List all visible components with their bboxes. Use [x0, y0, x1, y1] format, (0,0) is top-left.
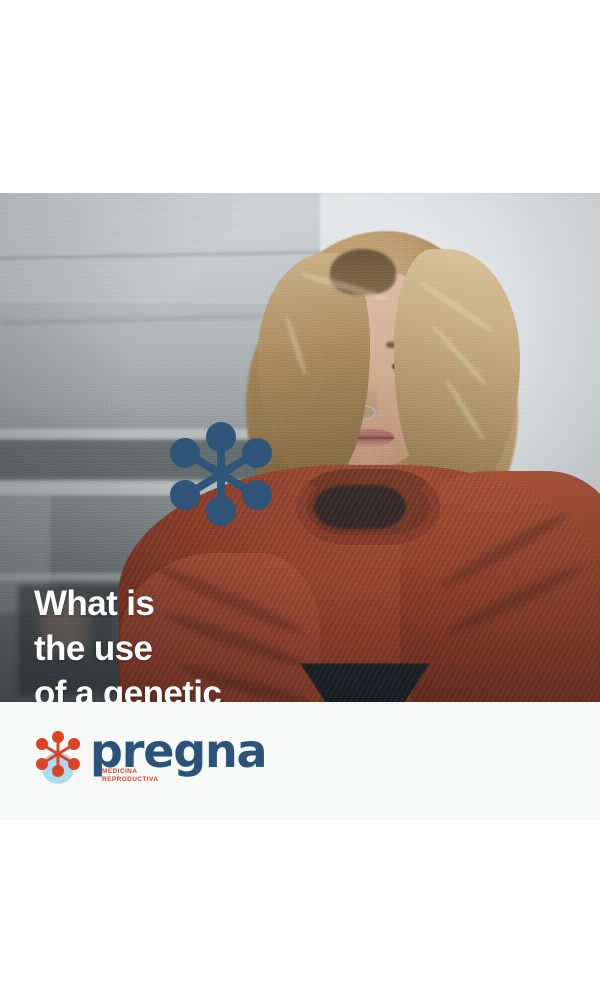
headline-line-1: What is	[34, 581, 334, 626]
footer-brand-bar: pregna MEDICINA REPRODUCTIVA	[0, 702, 600, 820]
headline-line-3: of a genetic	[34, 671, 334, 702]
pregna-molecule-logo-icon	[34, 730, 82, 786]
brand-lockup: pregna MEDICINA REPRODUCTIVA	[34, 728, 266, 786]
brand-text-block: pregna MEDICINA REPRODUCTIVA	[90, 728, 266, 774]
page-root: What is the use of a genetic test if I a…	[0, 0, 600, 1000]
headline: What is the use of a genetic test if I a…	[34, 581, 334, 702]
headline-line-2: the use	[34, 626, 334, 671]
hero-photo-card: What is the use of a genetic test if I a…	[0, 193, 600, 702]
molecule-icon	[168, 421, 274, 527]
brand-tagline: MEDICINA REPRODUCTIVA	[102, 768, 158, 784]
